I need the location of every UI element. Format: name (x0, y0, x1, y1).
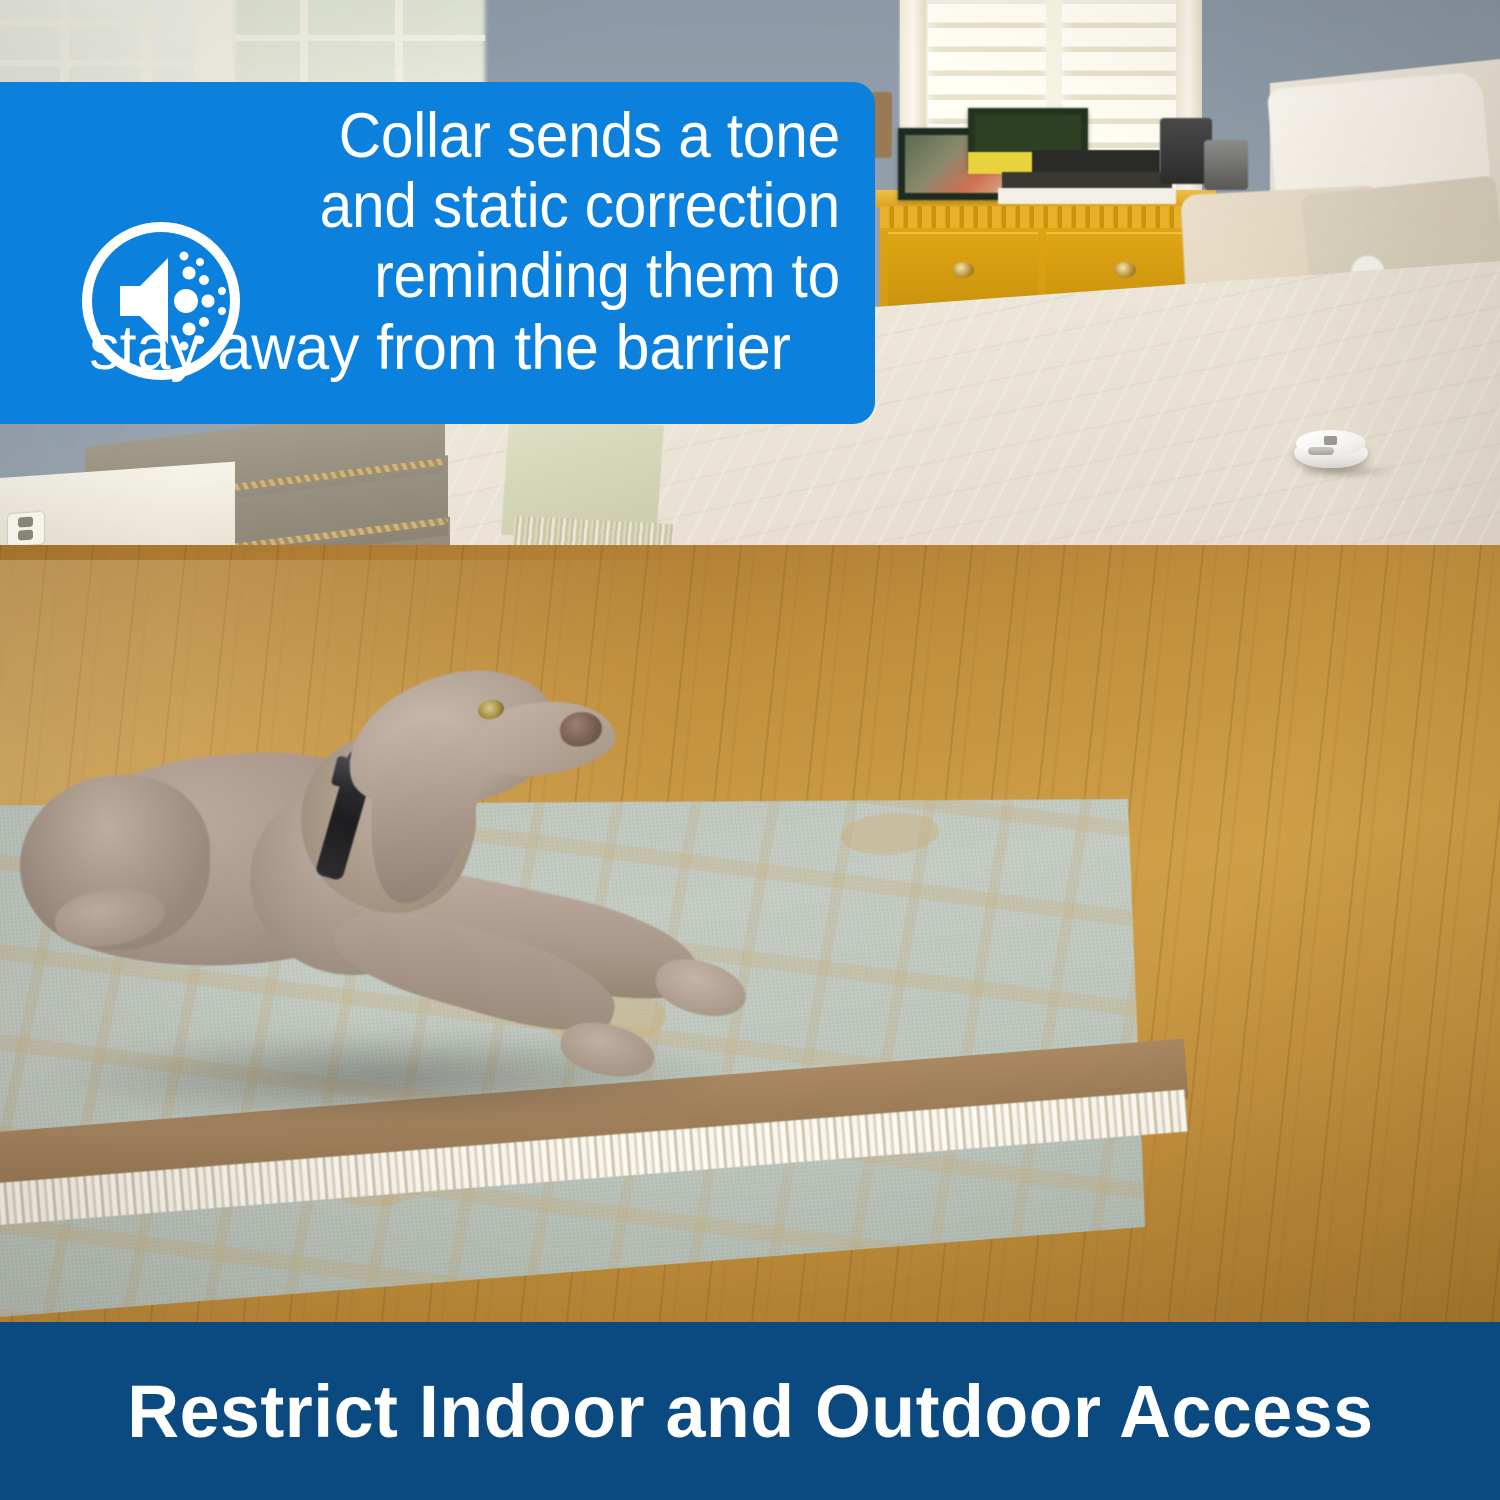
drawer-knob (1114, 262, 1136, 278)
white-book (998, 188, 1176, 204)
boundary-transmitter-device (1294, 428, 1374, 474)
dog-front-paw-second (556, 1015, 660, 1085)
callout-content: Collar sends a tone and static correctio… (0, 82, 875, 424)
feature-callout-box: Collar sends a tone and static correctio… (0, 82, 875, 424)
drawer-knob (952, 262, 974, 278)
bottom-banner: Restrict Indoor and Outdoor Access (0, 1322, 1500, 1500)
callout-text-block: Collar sends a tone and static correctio… (40, 102, 840, 384)
window-rail (0, 60, 190, 66)
metal-object (1204, 140, 1248, 190)
dresser-dentil-trim (880, 206, 1210, 228)
callout-line-1: Collar sends a tone (96, 102, 840, 172)
device-button (1324, 436, 1337, 445)
callout-line-2: and static correction (96, 172, 840, 242)
callout-line-4: stay away from the barrier (52, 314, 828, 384)
device-indicator-slot (1308, 447, 1334, 455)
window-rail (235, 35, 485, 41)
yellow-book (968, 152, 1034, 174)
dark-book (1032, 150, 1160, 174)
banner-title: Restrict Indoor and Outdoor Access (127, 1369, 1373, 1454)
wall-outlet (8, 512, 44, 547)
window-rail (0, 20, 190, 26)
weimaraner-dog (0, 640, 820, 1160)
promo-image: Collar sends a tone and static correctio… (0, 0, 1500, 1500)
callout-line-3: reminding them to (96, 242, 840, 312)
